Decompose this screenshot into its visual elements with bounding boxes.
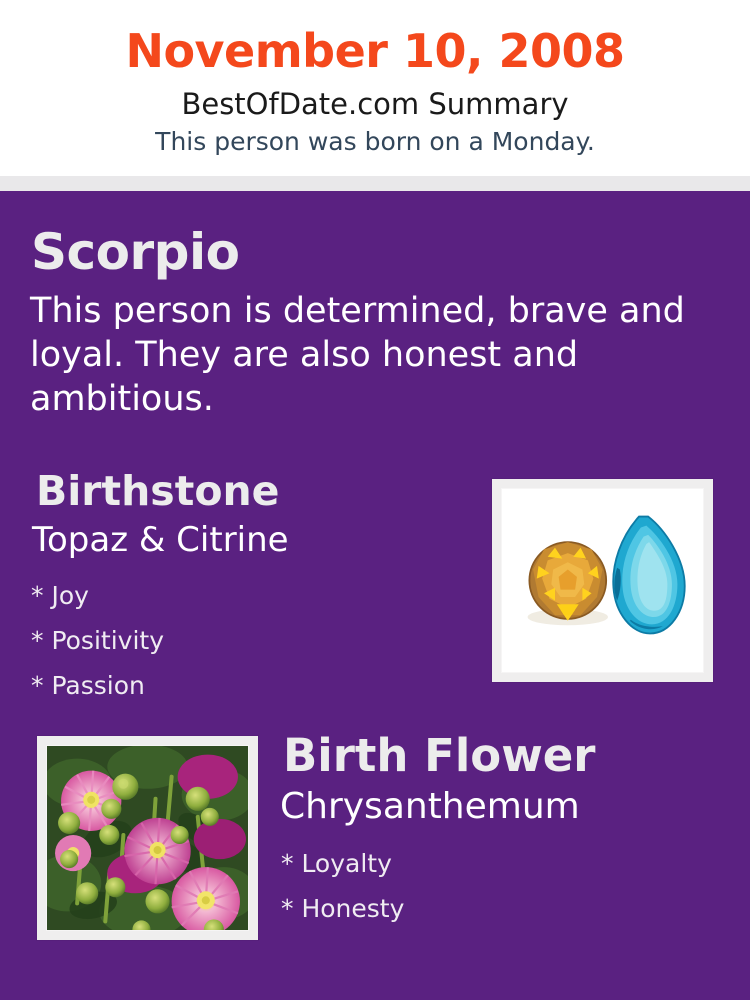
list-item: * Positivity — [31, 618, 451, 663]
page-header: November 10, 2008 BestOfDate.com Summary… — [0, 0, 750, 176]
header-divider — [0, 176, 750, 191]
page-title: November 10, 2008 — [0, 22, 750, 80]
list-item: * Joy — [31, 573, 451, 618]
birthstone-photo-frame — [492, 479, 713, 682]
zodiac-sign-heading: Scorpio — [31, 223, 239, 281]
birth-flower-photo — [46, 745, 249, 931]
birthstone-heading: Birthstone — [36, 467, 279, 515]
zodiac-description: This person is determined, brave and loy… — [30, 289, 702, 421]
list-item: * Honesty — [281, 886, 681, 931]
birth-flower-heading: Birth Flower — [283, 729, 596, 783]
gemstones-icon — [502, 489, 703, 672]
birthstone-name: Topaz & Citrine — [32, 519, 289, 561]
list-item: * Passion — [31, 663, 451, 708]
birth-flower-trait-list: * Loyalty * Honesty — [281, 841, 681, 931]
chrysanthemum-flowers-icon — [47, 746, 248, 930]
site-summary-label: BestOfDate.com Summary — [0, 86, 750, 122]
birth-flower-photo-frame — [37, 736, 258, 940]
page-root: November 10, 2008 BestOfDate.com Summary… — [0, 0, 750, 1000]
birthstone-trait-list: * Joy * Positivity * Passion — [31, 573, 451, 708]
birth-flower-name: Chrysanthemum — [280, 785, 580, 829]
summary-panel: Scorpio This person is determined, brave… — [0, 191, 750, 1000]
list-item: * Loyalty — [281, 841, 681, 886]
birthstone-photo — [501, 488, 704, 673]
born-day-label: This person was born on a Monday. — [0, 126, 750, 158]
